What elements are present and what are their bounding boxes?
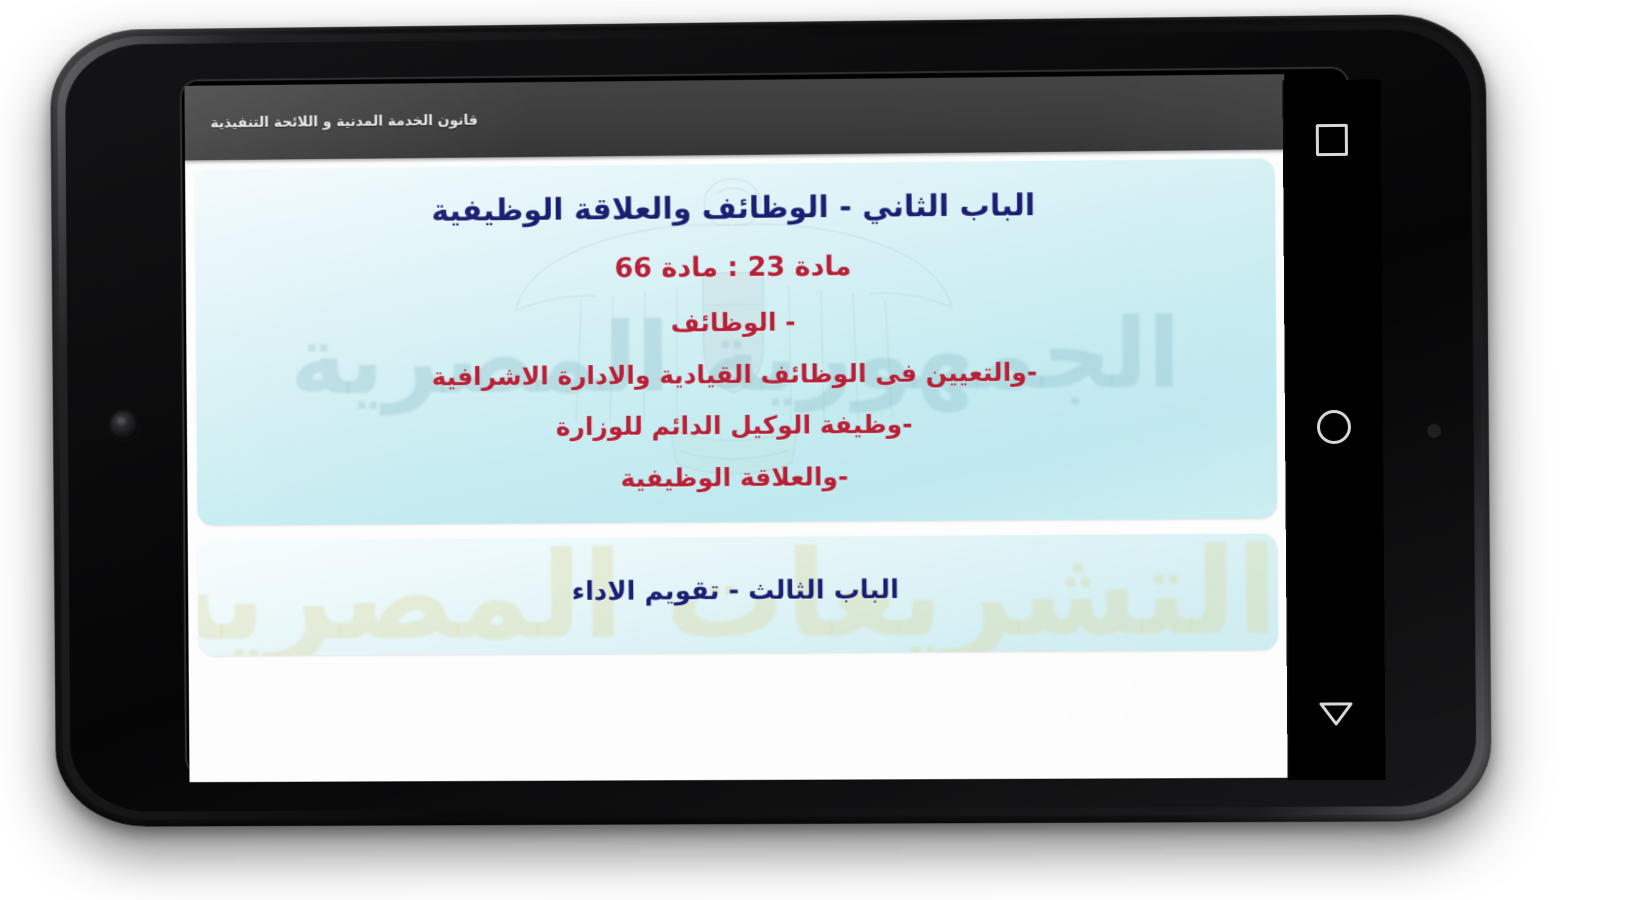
nav-button-back[interactable]: [1310, 688, 1362, 740]
card-text-block: الباب الثاني - الوظائف والعلاقة الوظيفية…: [221, 186, 1251, 496]
android-navigation-bar: [1282, 79, 1385, 780]
device-stage: قانون الخدمة المدنية و اللائحة التنفيذية: [0, 0, 1628, 900]
square-icon: [1316, 124, 1348, 156]
chapter-two-articles: مادة 23 : مادة 66: [221, 248, 1249, 289]
chapter-two-point-1: - الوظائف: [222, 304, 1250, 342]
action-bar-title: قانون الخدمة المدنية و اللائحة التنفيذية: [210, 112, 478, 131]
nav-button-recents[interactable]: [1306, 114, 1358, 167]
sensor-dot-icon: [1427, 424, 1441, 438]
chapter-two-point-3: -وظيفة الوكيل الدائم للوزارة: [222, 407, 1250, 444]
front-camera-icon: [109, 410, 139, 440]
action-bar: قانون الخدمة المدنية و اللائحة التنفيذية: [184, 74, 1284, 160]
nav-button-home[interactable]: [1308, 401, 1360, 453]
chapter-two-point-4: -والعلاقة الوظيفية: [223, 459, 1251, 496]
list-item-chapter-two[interactable]: الجمهورية المصرية الباب الثاني - الوظائف…: [195, 158, 1277, 526]
app-screen: قانون الخدمة المدنية و اللائحة التنفيذية: [184, 74, 1289, 782]
chapter-three-heading: الباب الثالث - تقويم الاداء: [224, 573, 1252, 610]
circle-icon: [1317, 410, 1351, 444]
list-item-chapter-three[interactable]: التشريعات المصرية الباب الثالث - تقويم ا…: [198, 533, 1279, 656]
chapter-two-heading: الباب الثاني - الوظائف والعلاقة الوظيفية: [221, 186, 1249, 231]
chapter-two-point-2: -والتعيين فى الوظائف القيادية والادارة ا…: [222, 356, 1250, 394]
content-list: الجمهورية المصرية الباب الثاني - الوظائف…: [185, 150, 1289, 783]
triangle-icon: [1319, 701, 1353, 727]
card-text-block-2: الباب الثالث - تقويم الاداء: [224, 573, 1252, 610]
